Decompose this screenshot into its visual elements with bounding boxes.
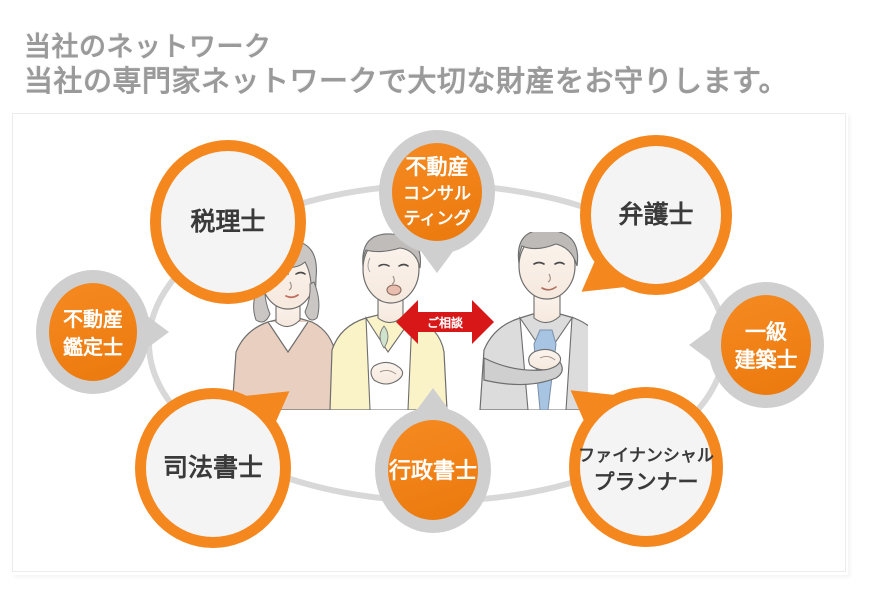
node-label-financial-planner-line-2: プランナー [594,471,699,494]
node-label-shiho-shoshi-line-1: 司法書士 [163,453,263,482]
node-label-fudosan-kanteishi-line-1: 不動産 [63,307,123,331]
network-node-fudosan-kanteishi[interactable]: 不動産鑑定士 [36,270,169,394]
node-label-fudosan-consulting-line-3: ティング [404,208,471,228]
node-label-gyosei-shoshi-line-1: 行政書士 [388,458,477,483]
node-label-fudosan-consulting-line-2: コンサル [403,184,471,203]
node-label-fudosan-consulting-line-1: 不動産 [406,155,469,179]
network-node-bengoshi[interactable]: 弁護士 [580,135,732,295]
node-label-ikkyu-kenchikushi-line-1: 一級 [745,320,787,344]
page-root: 当社のネットワーク 当社の専門家ネットワークで大切な財産をお守りします。 [0,0,876,595]
node-label-fudosan-kanteishi-line-2: 鑑定士 [63,335,123,359]
network-node-financial-planner[interactable]: ファイナンシャルプランナー [569,387,723,547]
node-body-fudosan-kanteishi [49,283,137,381]
network-diagram: ご相談 税理士不動産コンサルティング弁護士不動産鑑定士一級建築士司法書士行政書士… [0,0,876,595]
node-body-financial-planner [580,398,712,536]
node-label-bengoshi-line-1: 弁護士 [618,200,693,229]
node-label-ikkyu-kenchikushi-line-2: 建築士 [735,348,798,372]
node-body-ikkyu-kenchikushi [721,295,811,395]
consultation-arrow-label: ご相談 [427,315,464,330]
node-label-financial-planner-line-1: ファイナンシャル [578,446,714,465]
network-node-shiho-shoshi[interactable]: 司法書士 [135,388,291,548]
network-node-zeirishi[interactable]: 税理士 [150,140,306,304]
node-label-zeirishi-line-1: 税理士 [190,208,265,236]
